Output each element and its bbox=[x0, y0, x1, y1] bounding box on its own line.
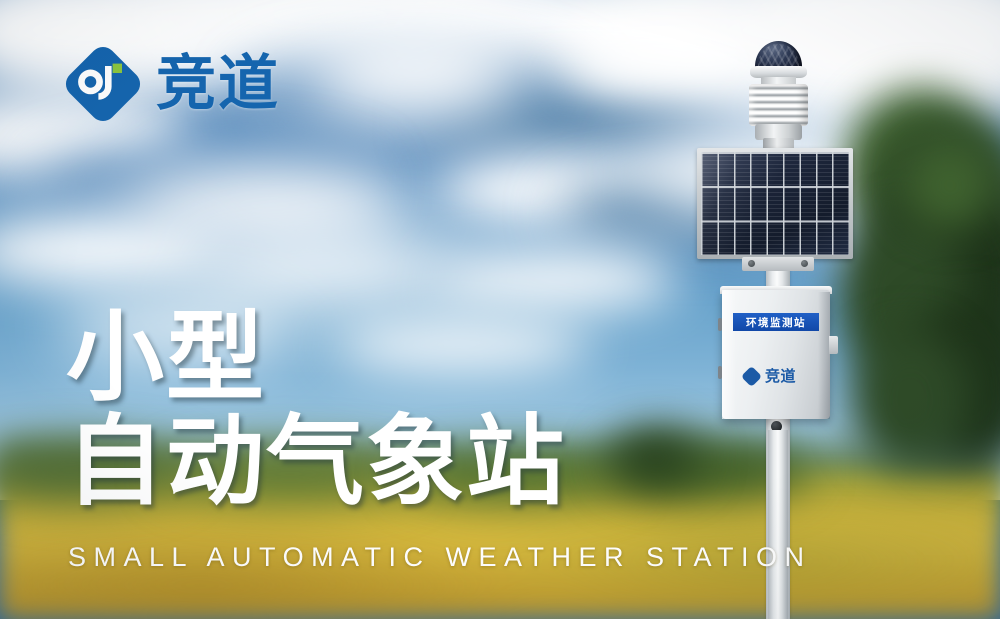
page-title: 小型 自动气象站 bbox=[66, 306, 566, 514]
control-box-shadow bbox=[818, 292, 830, 419]
bracket-bolt bbox=[801, 260, 808, 267]
page-subtitle: SMALL AUTOMATIC WEATHER STATION bbox=[68, 542, 812, 573]
radiation-shield bbox=[749, 84, 808, 126]
control-box-logo-text: 竞道 bbox=[765, 369, 796, 384]
brand-logo[interactable]: 竞道 bbox=[66, 47, 280, 121]
solar-panel bbox=[697, 148, 853, 259]
control-box-vent bbox=[718, 318, 722, 331]
product-banner: 环境监测站 竞道 bbox=[0, 0, 1000, 619]
control-box-side-tab bbox=[829, 336, 838, 354]
headline-line-2: 自动气象站 bbox=[66, 410, 566, 514]
jingdao-diamond-logo-icon bbox=[742, 367, 761, 386]
headline-line-1: 小型 bbox=[66, 306, 566, 410]
control-box-logo: 竞道 bbox=[742, 367, 796, 386]
control-box-banner-label: 环境监测站 bbox=[746, 315, 806, 330]
jingdao-diamond-logo-icon bbox=[66, 47, 140, 121]
brand-logo-text: 竞道 bbox=[156, 54, 280, 114]
solar-panel-cells bbox=[701, 152, 849, 255]
control-box-highlight bbox=[722, 290, 736, 419]
control-box bbox=[722, 290, 830, 419]
mast-lower bbox=[768, 430, 788, 619]
bracket-bolt bbox=[748, 260, 755, 267]
control-box-banner: 环境监测站 bbox=[733, 313, 819, 331]
control-box-vent bbox=[718, 366, 722, 379]
